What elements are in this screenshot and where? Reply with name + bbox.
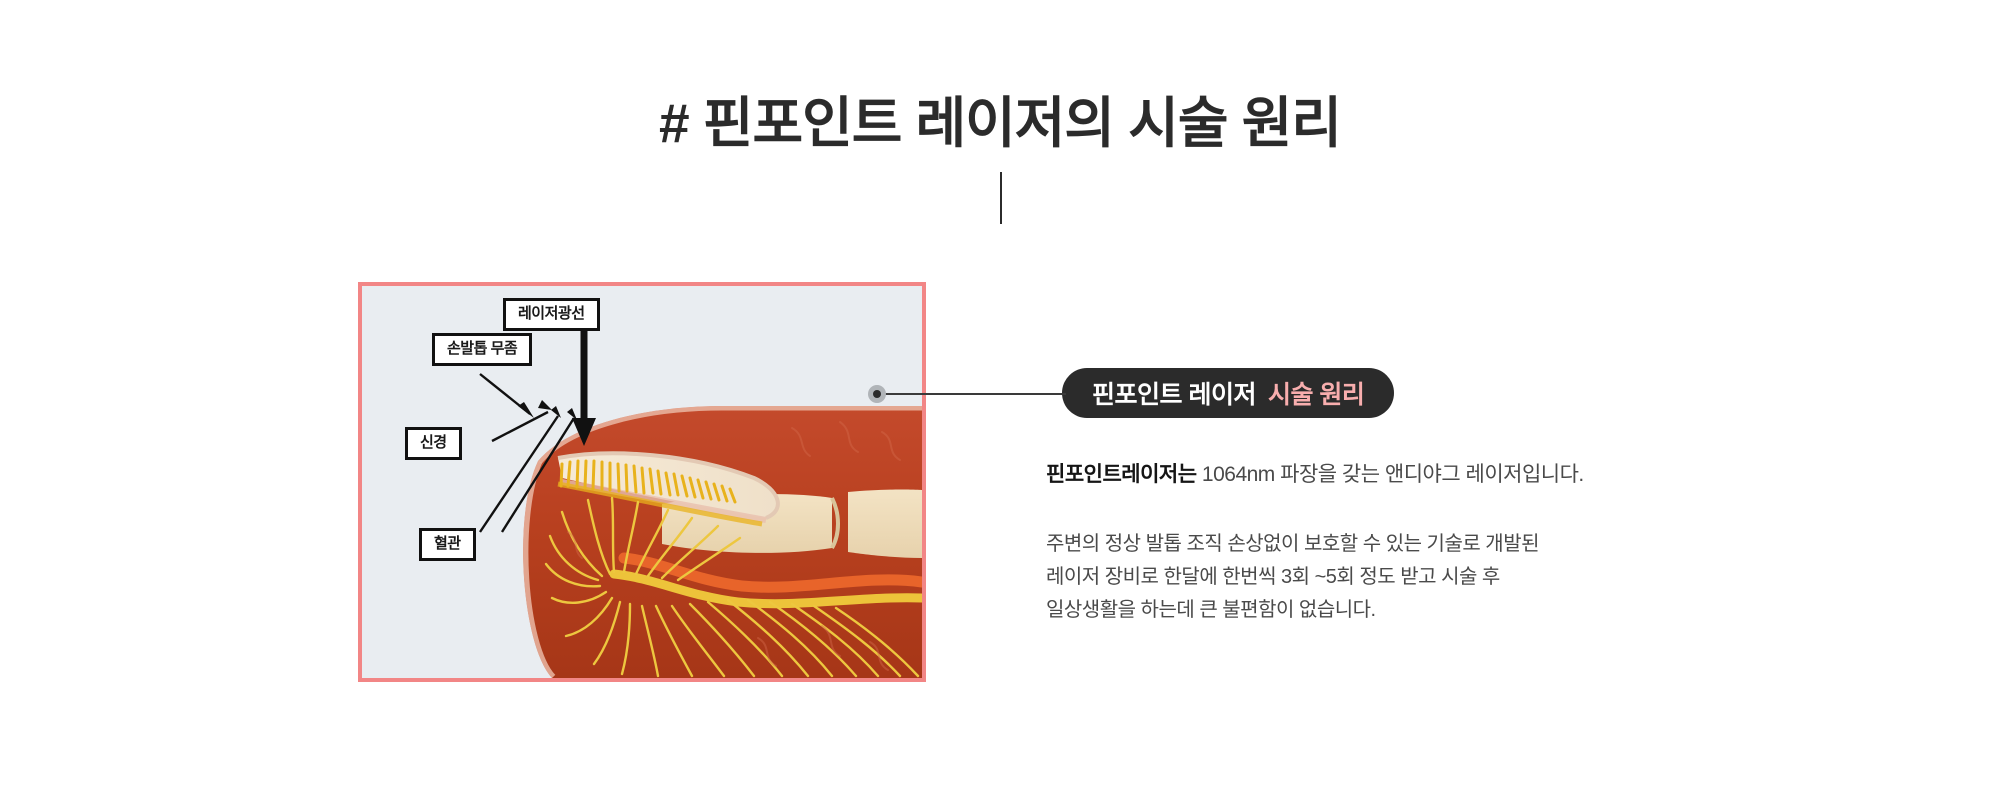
nail-anatomy-illustration: 레이저광선 손발톱 무좀 신경 혈관: [358, 282, 926, 682]
description-lead-rest: 1064nm 파장을 갖는 앤디야그 레이저입니다.: [1202, 463, 1584, 486]
connector-dot-icon: [868, 385, 886, 403]
description-paragraph: 주변의 정상 발톱 조직 손상없이 보호할 수 있는 기술로 개발된 레이저 장…: [1046, 528, 1539, 627]
paragraph-line: 주변의 정상 발톱 조직 손상없이 보호할 수 있는 기술로 개발된: [1046, 528, 1539, 561]
callout-laser-beam: 레이저광선: [503, 298, 600, 331]
title-divider: [1000, 172, 1002, 224]
status-badge: 핀포인트 레이저 시술 원리: [1062, 368, 1394, 418]
callout-blood-vessel: 혈관: [419, 528, 476, 561]
callout-nail-fungus: 손발톱 무좀: [432, 333, 532, 366]
description-lead: 핀포인트레이저는 1064nm 파장을 갖는 앤디야그 레이저입니다.: [1046, 458, 1584, 488]
badge-main-label: 핀포인트 레이저: [1092, 375, 1256, 411]
paragraph-line: 레이저 장비로 한달에 한번씩 3회 ~5회 정도 받고 시술 후: [1046, 561, 1539, 594]
badge-accent-label: 시술 원리: [1268, 375, 1364, 411]
description-lead-strong: 핀포인트레이저는: [1046, 463, 1197, 486]
connector-line: [884, 393, 1066, 395]
paragraph-line: 일상생활을 하는데 큰 불편함이 없습니다.: [1046, 594, 1539, 627]
callout-nerve: 신경: [405, 427, 462, 460]
page-title: # 핀포인트 레이저의 시술 원리: [0, 78, 2000, 158]
